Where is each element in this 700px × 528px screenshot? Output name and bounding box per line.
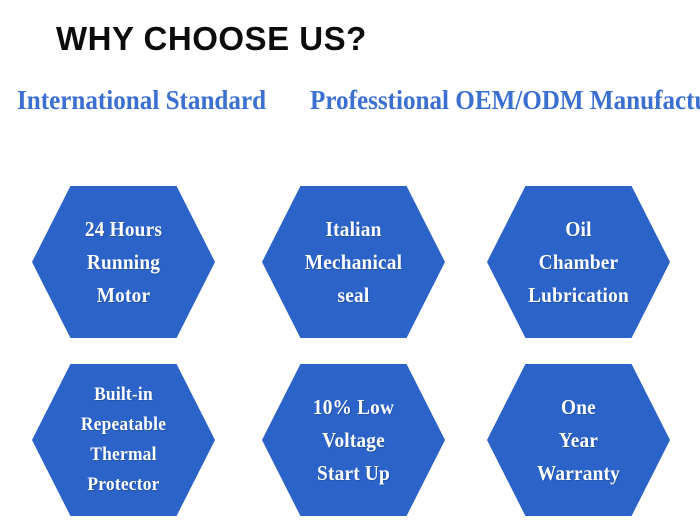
column-heading-international-standard: International Standard [17, 85, 266, 115]
feature-hexagon-label: Oil Chamber Lubrication [494, 186, 662, 338]
feature-hexagon-label: One Year Warranty [494, 364, 662, 516]
feature-hexagon-24-hours-running-motor[interactable]: 24 Hours Running Motor [32, 186, 215, 338]
column-heading-oem-odm-manufacturer: Professtional OEM/ODM Manufacturer [310, 85, 700, 115]
feature-hexagon-grid: 24 Hours Running Motor Italian Mechanica… [0, 175, 700, 528]
why-choose-us-slide: WHY CHOOSE US? International Standard Pr… [0, 0, 700, 528]
feature-hexagon-built-in-repeatable-thermal-protector[interactable]: Built-in Repeatable Thermal Protector [32, 364, 215, 516]
feature-hexagon-label: 10% Low Voltage Start Up [269, 364, 437, 516]
feature-hexagon-label: Italian Mechanical seal [269, 186, 437, 338]
feature-hexagon-label: Built-in Repeatable Thermal Protector [39, 364, 207, 516]
feature-row-top: 24 Hours Running Motor Italian Mechanica… [0, 186, 700, 338]
feature-hexagon-one-year-warranty[interactable]: One Year Warranty [487, 364, 670, 516]
feature-hexagon-italian-mechanical-seal[interactable]: Italian Mechanical seal [262, 186, 445, 338]
feature-hexagon-10-percent-low-voltage-start-up[interactable]: 10% Low Voltage Start Up [262, 364, 445, 516]
page-title: WHY CHOOSE US? [56, 20, 367, 58]
feature-hexagon-oil-chamber-lubrication[interactable]: Oil Chamber Lubrication [487, 186, 670, 338]
feature-row-bottom: Built-in Repeatable Thermal Protector 10… [0, 364, 700, 516]
feature-hexagon-label: 24 Hours Running Motor [39, 186, 207, 338]
